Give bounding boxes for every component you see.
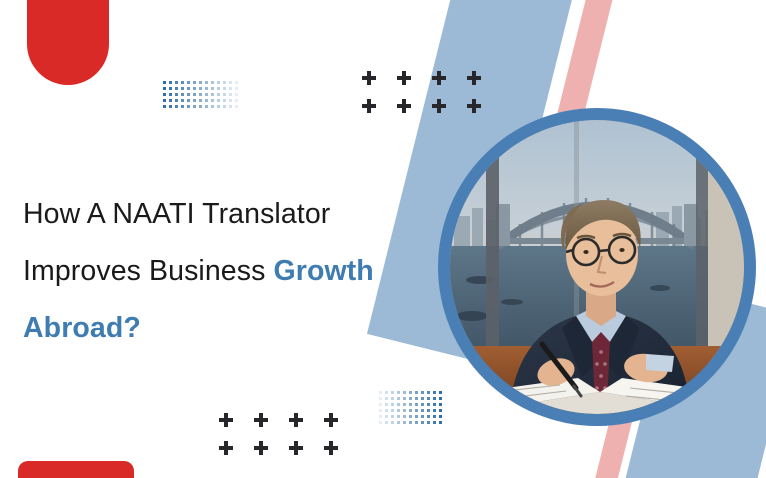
grid-dot xyxy=(415,415,418,418)
grid-dot xyxy=(187,105,190,108)
grid-dot xyxy=(199,105,202,108)
photo-ring xyxy=(438,108,756,426)
grid-dot xyxy=(379,421,382,424)
grid-dot xyxy=(235,99,238,102)
grid-dot xyxy=(235,93,238,96)
grid-dot xyxy=(163,87,166,90)
grid-dot xyxy=(175,81,178,84)
grid-dot xyxy=(379,409,382,412)
grid-dot xyxy=(235,105,238,108)
grid-dot xyxy=(391,415,394,418)
plus-grid-top xyxy=(362,71,481,113)
grid-dot xyxy=(163,105,166,108)
grid-dot xyxy=(391,403,394,406)
grid-dot xyxy=(397,391,400,394)
grid-dot xyxy=(181,81,184,84)
grid-dot xyxy=(187,87,190,90)
grid-dot xyxy=(217,93,220,96)
grid-dot xyxy=(421,421,424,424)
grid-dot xyxy=(385,397,388,400)
grid-dot xyxy=(403,415,406,418)
grid-dot xyxy=(409,391,412,394)
grid-dot xyxy=(211,81,214,84)
grid-dot xyxy=(199,81,202,84)
plus-marker xyxy=(289,413,303,427)
plus-grid-bottom xyxy=(219,413,338,455)
grid-dot xyxy=(391,391,394,394)
plus-marker xyxy=(432,71,446,85)
grid-dot xyxy=(409,415,412,418)
businessman-signing-documents-photo xyxy=(450,120,744,414)
grid-dot xyxy=(211,99,214,102)
grid-dot xyxy=(187,93,190,96)
grid-dot xyxy=(409,421,412,424)
grid-dot xyxy=(421,391,424,394)
page-title: How A NAATI TranslatorImproves Business … xyxy=(23,186,423,357)
grid-dot xyxy=(397,421,400,424)
grid-dot xyxy=(433,391,436,394)
grid-dot xyxy=(169,87,172,90)
dot-grid-top xyxy=(163,81,238,108)
grid-dot xyxy=(421,403,424,406)
grid-dot xyxy=(229,93,232,96)
grid-dot xyxy=(199,99,202,102)
grid-dot xyxy=(199,87,202,90)
grid-dot xyxy=(205,81,208,84)
grid-dot xyxy=(421,409,424,412)
grid-dot xyxy=(181,99,184,102)
grid-dot xyxy=(211,87,214,90)
grid-dot xyxy=(397,397,400,400)
plus-marker xyxy=(254,413,268,427)
grid-dot xyxy=(379,397,382,400)
grid-dot xyxy=(439,391,442,394)
grid-dot xyxy=(385,421,388,424)
grid-dot xyxy=(439,409,442,412)
grid-dot xyxy=(223,87,226,90)
headline-line-2-plain: Improves Business xyxy=(23,255,273,287)
dot-grid-bottom xyxy=(379,391,442,424)
grid-dot xyxy=(223,93,226,96)
grid-dot xyxy=(175,99,178,102)
plus-marker xyxy=(219,413,233,427)
plus-marker xyxy=(289,441,303,455)
grid-dot xyxy=(229,105,232,108)
grid-dot xyxy=(427,421,430,424)
grid-dot xyxy=(439,403,442,406)
grid-dot xyxy=(397,409,400,412)
grid-dot xyxy=(169,99,172,102)
grid-dot xyxy=(403,403,406,406)
grid-dot xyxy=(403,421,406,424)
grid-dot xyxy=(385,403,388,406)
grid-dot xyxy=(433,415,436,418)
plus-marker xyxy=(432,99,446,113)
grid-dot xyxy=(193,93,196,96)
plus-marker xyxy=(324,441,338,455)
grid-dot xyxy=(217,81,220,84)
grid-dot xyxy=(205,105,208,108)
grid-dot xyxy=(403,391,406,394)
grid-dot xyxy=(163,99,166,102)
grid-dot xyxy=(229,99,232,102)
grid-dot xyxy=(211,93,214,96)
grid-dot xyxy=(193,81,196,84)
hero-banner: How A NAATI TranslatorImproves Business … xyxy=(0,0,766,478)
grid-dot xyxy=(427,391,430,394)
grid-dot xyxy=(163,81,166,84)
plus-marker xyxy=(324,413,338,427)
grid-dot xyxy=(175,93,178,96)
grid-dot xyxy=(409,403,412,406)
grid-dot xyxy=(187,81,190,84)
grid-dot xyxy=(427,397,430,400)
grid-dot xyxy=(169,93,172,96)
grid-dot xyxy=(193,87,196,90)
plus-marker xyxy=(219,441,233,455)
grid-dot xyxy=(439,415,442,418)
grid-dot xyxy=(379,403,382,406)
grid-dot xyxy=(181,93,184,96)
grid-dot xyxy=(175,87,178,90)
plus-marker xyxy=(397,99,411,113)
grid-dot xyxy=(217,87,220,90)
grid-dot xyxy=(421,415,424,418)
grid-dot xyxy=(409,397,412,400)
grid-dot xyxy=(415,421,418,424)
grid-dot xyxy=(433,397,436,400)
plus-marker xyxy=(362,99,376,113)
grid-dot xyxy=(439,421,442,424)
headline-line-1: How A NAATI Translator xyxy=(23,198,330,230)
plus-marker xyxy=(467,99,481,113)
grid-dot xyxy=(193,105,196,108)
grid-dot xyxy=(433,403,436,406)
plus-marker xyxy=(254,441,268,455)
grid-dot xyxy=(217,105,220,108)
red-rounded-tab-bottom-left xyxy=(18,461,134,478)
plus-marker xyxy=(467,71,481,85)
grid-dot xyxy=(169,81,172,84)
grid-dot xyxy=(427,409,430,412)
grid-dot xyxy=(397,403,400,406)
grid-dot xyxy=(169,105,172,108)
grid-dot xyxy=(403,397,406,400)
grid-dot xyxy=(235,81,238,84)
grid-dot xyxy=(415,409,418,412)
grid-dot xyxy=(181,105,184,108)
grid-dot xyxy=(421,397,424,400)
grid-dot xyxy=(199,93,202,96)
grid-dot xyxy=(223,99,226,102)
grid-dot xyxy=(205,93,208,96)
plus-marker xyxy=(362,71,376,85)
grid-dot xyxy=(427,415,430,418)
grid-dot xyxy=(433,409,436,412)
grid-dot xyxy=(433,421,436,424)
grid-dot xyxy=(415,391,418,394)
grid-dot xyxy=(427,403,430,406)
grid-dot xyxy=(385,415,388,418)
grid-dot xyxy=(385,409,388,412)
grid-dot xyxy=(217,99,220,102)
grid-dot xyxy=(391,421,394,424)
grid-dot xyxy=(205,87,208,90)
grid-dot xyxy=(391,409,394,412)
grid-dot xyxy=(415,403,418,406)
grid-dot xyxy=(379,415,382,418)
grid-dot xyxy=(175,105,178,108)
grid-dot xyxy=(223,105,226,108)
grid-dot xyxy=(391,397,394,400)
headline-accent-abroad: Abroad? xyxy=(23,312,141,344)
grid-dot xyxy=(181,87,184,90)
plus-marker xyxy=(397,71,411,85)
grid-dot xyxy=(409,409,412,412)
grid-dot xyxy=(187,99,190,102)
grid-dot xyxy=(439,397,442,400)
grid-dot xyxy=(379,391,382,394)
grid-dot xyxy=(385,391,388,394)
grid-dot xyxy=(223,81,226,84)
grid-dot xyxy=(211,105,214,108)
grid-dot xyxy=(193,99,196,102)
grid-dot xyxy=(229,87,232,90)
grid-dot xyxy=(163,93,166,96)
headline-accent-growth: Growth xyxy=(273,255,373,287)
grid-dot xyxy=(229,81,232,84)
grid-dot xyxy=(397,415,400,418)
grid-dot xyxy=(205,99,208,102)
red-rounded-tab-top-left xyxy=(27,0,109,85)
grid-dot xyxy=(403,409,406,412)
grid-dot xyxy=(235,87,238,90)
grid-dot xyxy=(415,397,418,400)
